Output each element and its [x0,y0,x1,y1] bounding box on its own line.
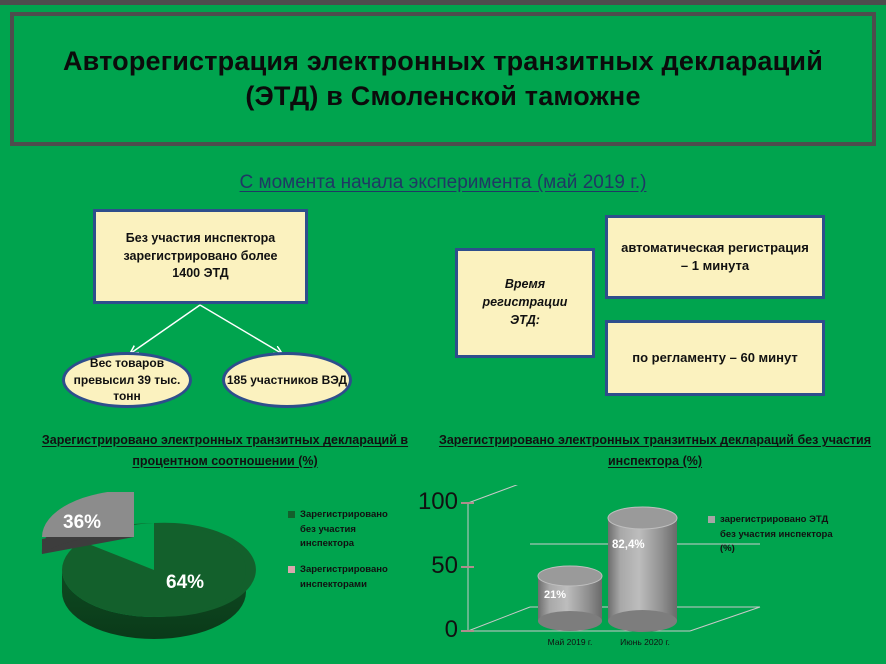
bar-value-june-2020: 82,4% [612,539,645,551]
bar-chart-caption: Зарегистрировано электронных транзитных … [435,430,875,471]
callout-box-registration-time: Время регистрации ЭТД: [455,248,595,358]
legend-item: Зарегистрировано без участия инспектора [288,508,403,552]
legend-label: Зарегистрировано без участия инспектора [300,508,403,552]
ellipse-goods-weight: Вес товаров превысил 39 тыс. тонн [62,352,192,408]
presentation-slide: Авторегистрация электронных транзитных д… [0,0,886,664]
pie-label-36: 36% [63,512,101,533]
title-banner: Авторегистрация электронных транзитных д… [10,12,876,146]
legend-swatch-green [288,511,295,518]
page-title: Авторегистрация электронных транзитных д… [14,44,872,113]
y-axis-tick-100: 100 [398,488,458,516]
bar-cylinder-june-2020 [608,507,677,632]
x-axis-label-june-2020: Июнь 2020 г. [590,637,700,647]
pie-chart-legend: Зарегистрировано без участия инспектора … [288,508,403,604]
bar-value-may-2019: 21% [544,589,566,601]
callout-box-main: Без участия инспектора зарегистрировано … [93,209,308,304]
y-axis-tick-0: 0 [398,616,458,644]
legend-item: зарегистрировано ЭТД без участия инспект… [708,513,833,557]
legend-swatch-gray [288,566,295,573]
callout-box-regulation: по регламенту – 60 минут [605,320,825,396]
legend-label: зарегистрировано ЭТД без участия инспект… [720,513,833,557]
bar-chart-legend: зарегистрировано ЭТД без участия инспект… [708,513,833,568]
legend-swatch-gray [708,516,715,523]
legend-label: Зарегистрировано инспекторами [300,563,403,592]
pie-label-64: 64% [166,572,204,593]
pie-chart-caption: Зарегистрировано электронных транзитных … [30,430,420,471]
bar-chart: 21% 82,4% 100 50 0 Май 2019 г. Июнь 2020… [440,485,886,664]
pie-chart: 64% 36% [20,492,280,657]
subtitle: С момента начала эксперимента (май 2019 … [0,172,886,194]
ellipse-participants: 185 участников ВЭД [222,352,352,408]
y-axis-tick-50: 50 [398,552,458,580]
callout-box-auto-registration: автоматическая регистрация – 1 минута [605,215,825,299]
legend-item: Зарегистрировано инспекторами [288,563,403,592]
